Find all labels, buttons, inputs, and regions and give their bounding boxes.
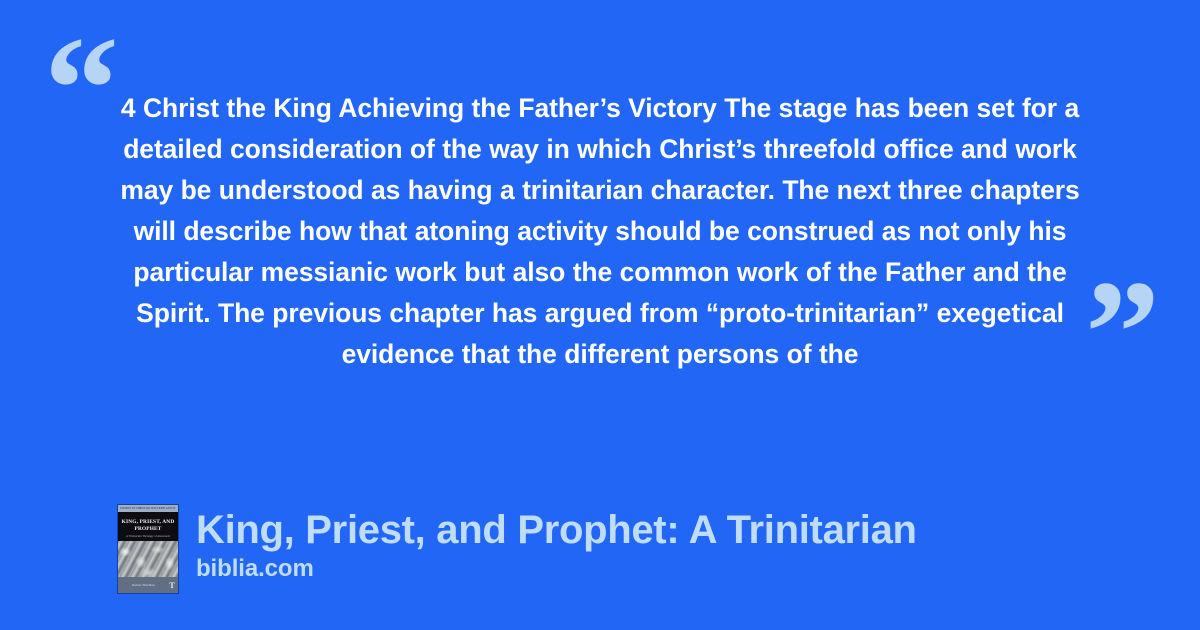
cover-series-band: STUDIES IN CHRISTIAN DOCTRINE AND SCRIPT… (118, 505, 178, 512)
cover-author: Robert Sherman (121, 583, 166, 587)
footer: STUDIES IN CHRISTIAN DOCTRINE AND SCRIPT… (118, 505, 917, 593)
site-name[interactable]: biblia.com (196, 554, 917, 584)
footer-text-block: King, Priest, and Prophet: A Trinitarian… (196, 505, 917, 584)
quote-card: “ ” 4 Christ the King Achieving the Fath… (0, 0, 1200, 630)
book-title[interactable]: King, Priest, and Prophet: A Trinitarian (196, 507, 917, 553)
cover-subtitle: A Trinitarian Theology of Atonement (121, 534, 175, 538)
cover-series-text: STUDIES IN CHRISTIAN DOCTRINE AND SCRIPT… (120, 507, 176, 511)
quote-text: 4 Christ the King Achieving the Father’s… (112, 88, 1088, 375)
publisher-logo-icon: T (169, 581, 176, 591)
cover-title: KING, PRIEST, AND PROPHET (121, 519, 175, 532)
cover-artwork (118, 541, 178, 577)
opening-quote-icon: “ (44, 14, 119, 164)
closing-quote-icon: ” (1085, 258, 1160, 408)
book-cover-thumbnail[interactable]: STUDIES IN CHRISTIAN DOCTRINE AND SCRIPT… (118, 505, 178, 593)
